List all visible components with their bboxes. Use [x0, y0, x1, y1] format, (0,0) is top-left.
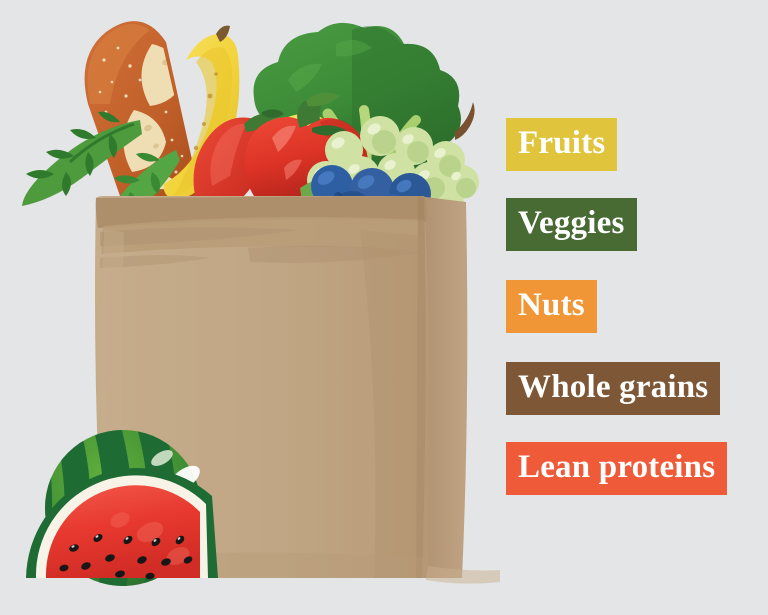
- legend-item-veggies[interactable]: Veggies: [506, 198, 637, 251]
- legend-item-fruits[interactable]: Fruits: [506, 118, 617, 171]
- food-groups-legend: Fruits Veggies Nuts Whole grains Lean pr…: [506, 118, 768, 488]
- legend-item-lean-proteins[interactable]: Lean proteins: [506, 442, 727, 495]
- infographic-canvas: Fruits Veggies Nuts Whole grains Lean pr…: [0, 0, 768, 615]
- legend-item-whole-grains[interactable]: Whole grains: [506, 362, 720, 415]
- legend-item-nuts[interactable]: Nuts: [506, 280, 597, 333]
- grocery-bag-illustration: [0, 0, 500, 615]
